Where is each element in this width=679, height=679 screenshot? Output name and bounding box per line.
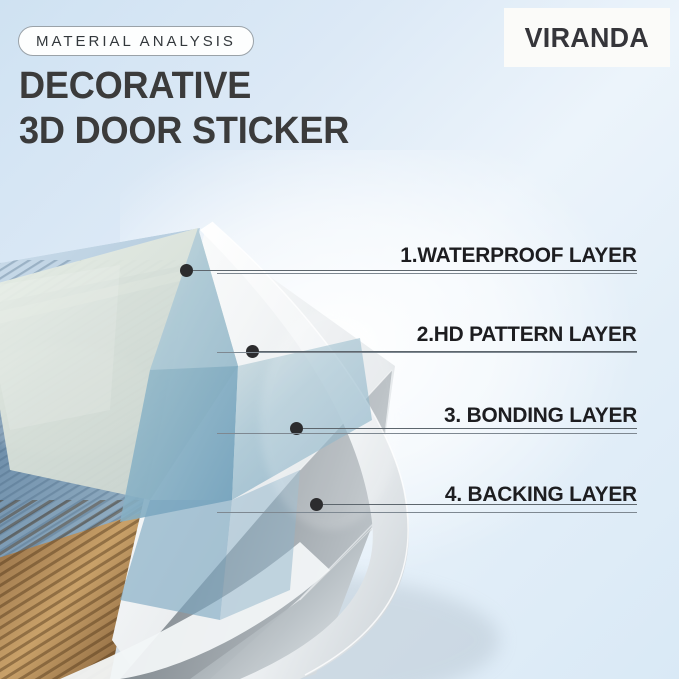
callout-label-bonding: 3. BONDING LAYER <box>444 403 637 428</box>
title-line-2: 3D DOOR STICKER <box>19 109 466 154</box>
callout-label-waterproof: 1.WATERPROOF LAYER <box>401 243 637 268</box>
material-analysis-badge: MATERIAL ANALYSIS <box>18 26 254 56</box>
callout-rule-bonding <box>217 433 637 434</box>
brand-logo-text: VIRANDA <box>525 22 649 54</box>
callout-hd-pattern: 2.HD PATTERN LAYER <box>217 322 637 353</box>
callout-rule-hd-pattern <box>217 352 637 353</box>
callout-rule-backing <box>217 512 637 513</box>
page-title: DECORATIVE 3D DOOR STICKER <box>19 64 466 154</box>
badge-label: MATERIAL ANALYSIS <box>36 33 236 50</box>
brand-logo-box: VIRANDA <box>504 8 670 67</box>
callout-waterproof: 1.WATERPROOF LAYER <box>217 243 637 274</box>
callout-backing: 4. BACKING LAYER <box>217 482 637 513</box>
title-line-1: DECORATIVE <box>19 64 466 109</box>
infographic-canvas: MATERIAL ANALYSIS DECORATIVE 3D DOOR STI… <box>0 0 679 679</box>
callout-bonding: 3. BONDING LAYER <box>217 403 637 434</box>
callout-label-hd-pattern: 2.HD PATTERN LAYER <box>417 322 637 347</box>
callout-label-backing: 4. BACKING LAYER <box>445 482 637 507</box>
callout-rule-waterproof <box>217 273 637 274</box>
